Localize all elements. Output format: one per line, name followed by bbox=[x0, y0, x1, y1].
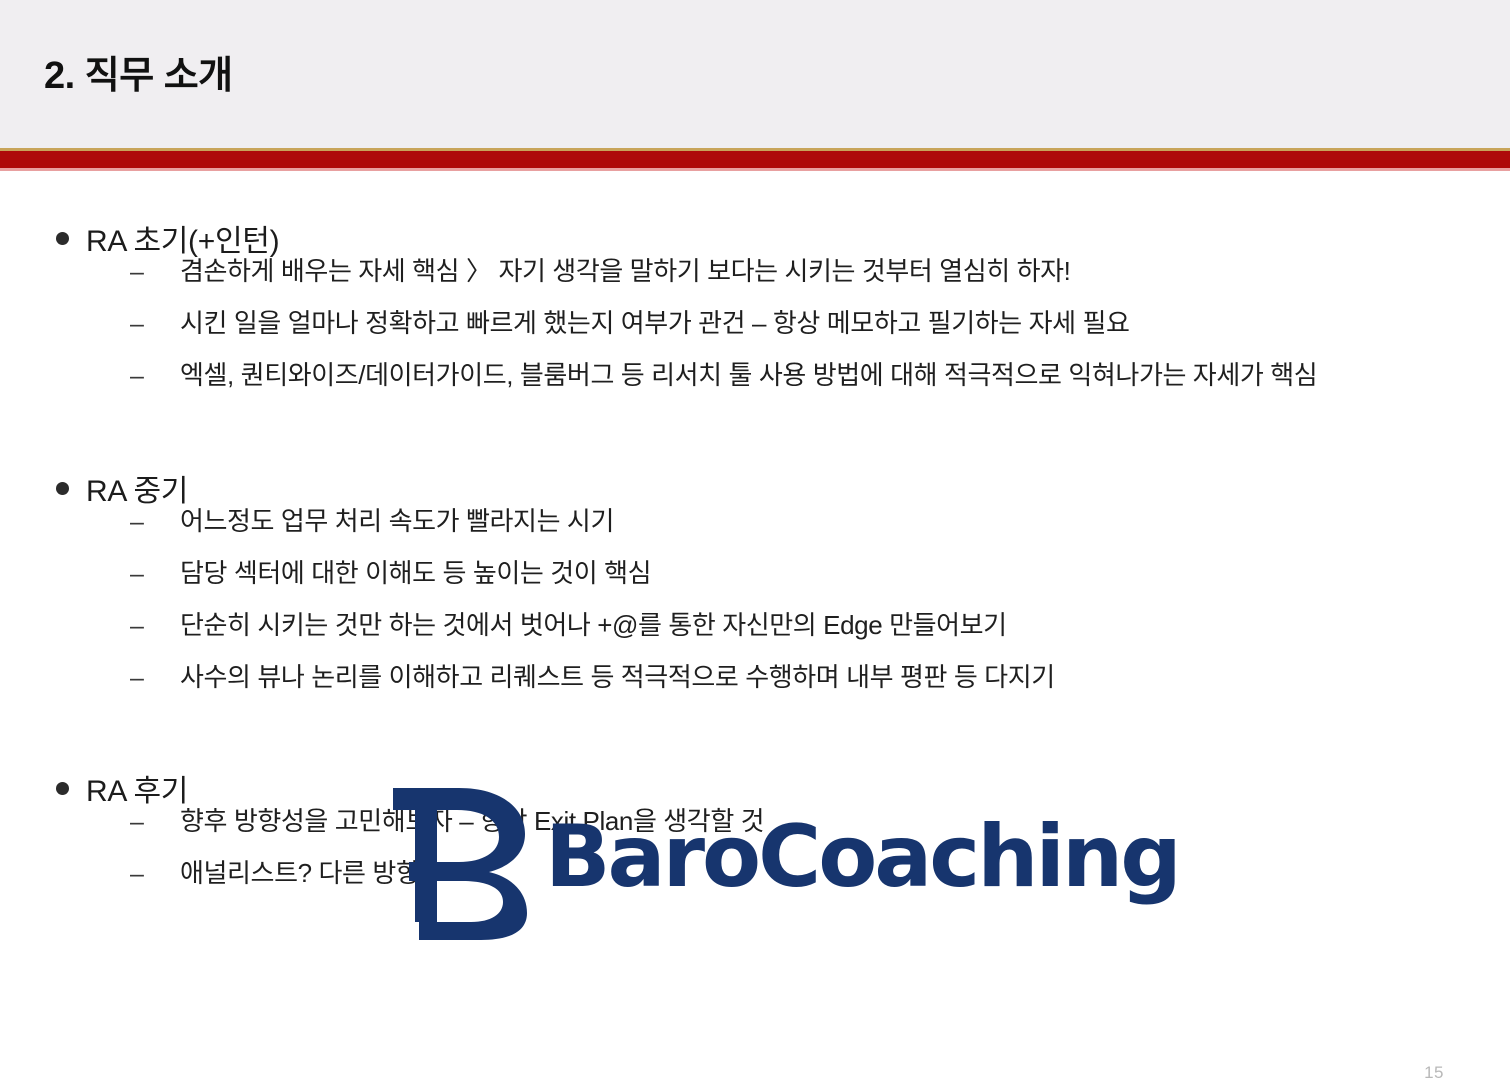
list-item: – 애널리스트? 다른 방향? bbox=[0, 859, 1460, 911]
dash-marker-icon: – bbox=[130, 510, 180, 535]
dash-marker-icon: – bbox=[130, 862, 180, 887]
bullet-dot-icon bbox=[56, 482, 69, 495]
list-item: – 시킨 일을 얼마나 정확하고 빠르게 했는지 여부가 관건 – 항상 메모하… bbox=[0, 309, 1460, 361]
dash-marker-icon: – bbox=[130, 260, 180, 285]
dash-marker-icon: – bbox=[130, 562, 180, 587]
list-item-text: 단순히 시키는 것만 하는 것에서 벗어나 +@를 통한 자신만의 Edge 만… bbox=[180, 611, 1007, 641]
dash-marker-icon: – bbox=[130, 666, 180, 691]
header-divider-red bbox=[0, 151, 1510, 168]
list-item: – 담당 섹터에 대한 이해도 등 높이는 것이 핵심 bbox=[0, 559, 1460, 611]
dash-marker-icon: – bbox=[130, 364, 180, 389]
content-section: RA 초기(+인턴) – 겸손하게 배우는 자세 핵심 〉 자기 생각을 말하기… bbox=[0, 219, 1460, 413]
section-title: RA 초기(+인턴) bbox=[86, 216, 279, 260]
slide-canvas: 2. 직무 소개 RA 초기(+인턴) – 겸손하게 배우는 자세 핵심 〉 자… bbox=[0, 0, 1510, 1074]
list-item-text: 엑셀, 퀀티와이즈/데이터가이드, 블룸버그 등 리서치 툴 사용 방법에 대해… bbox=[180, 361, 1317, 391]
sub-item-list: – 향후 방향성을 고민해보자 – 항상 Exit Plan을 생각할 것 – … bbox=[0, 807, 1460, 911]
list-item-text: 사수의 뷰나 논리를 이해하고 리퀘스트 등 적극적으로 수행하며 내부 평판 … bbox=[180, 663, 1055, 693]
section-heading: RA 후기 bbox=[0, 769, 1460, 807]
list-item: – 어느정도 업무 처리 속도가 빨라지는 시기 bbox=[0, 507, 1460, 559]
page-title: 2. 직무 소개 bbox=[44, 44, 233, 99]
dash-marker-icon: – bbox=[130, 614, 180, 639]
list-item-text: 겸손하게 배우는 자세 핵심 〉 자기 생각을 말하기 보다는 시키는 것부터 … bbox=[180, 257, 1070, 287]
sub-item-list: – 어느정도 업무 처리 속도가 빨라지는 시기 – 담당 섹터에 대한 이해도… bbox=[0, 507, 1460, 715]
slide-header-band: 2. 직무 소개 bbox=[0, 0, 1510, 148]
slide-body: RA 초기(+인턴) – 겸손하게 배우는 자세 핵심 〉 자기 생각을 말하기… bbox=[0, 171, 1510, 1074]
section-title: RA 후기 bbox=[86, 766, 188, 810]
bullet-dot-icon bbox=[56, 232, 69, 245]
list-item-text: 어느정도 업무 처리 속도가 빨라지는 시기 bbox=[180, 507, 614, 537]
sub-item-list: – 겸손하게 배우는 자세 핵심 〉 자기 생각을 말하기 보다는 시키는 것부… bbox=[0, 257, 1460, 413]
list-item-text: 향후 방향성을 고민해보자 – 항상 Exit Plan을 생각할 것 bbox=[180, 807, 764, 837]
list-item: – 겸손하게 배우는 자세 핵심 〉 자기 생각을 말하기 보다는 시키는 것부… bbox=[0, 257, 1460, 309]
section-heading: RA 초기(+인턴) bbox=[0, 219, 1460, 257]
bullet-dot-icon bbox=[56, 782, 69, 795]
list-item-text: 시킨 일을 얼마나 정확하고 빠르게 했는지 여부가 관건 – 항상 메모하고 … bbox=[180, 309, 1130, 339]
section-title: RA 중기 bbox=[86, 466, 188, 510]
content-section: RA 중기 – 어느정도 업무 처리 속도가 빨라지는 시기 – 담당 섹터에 … bbox=[0, 469, 1460, 715]
dash-marker-icon: – bbox=[130, 810, 180, 835]
content-section: RA 후기 – 향후 방향성을 고민해보자 – 항상 Exit Plan을 생각… bbox=[0, 769, 1460, 911]
dash-marker-icon: – bbox=[130, 312, 180, 337]
list-item-text: 담당 섹터에 대한 이해도 등 높이는 것이 핵심 bbox=[180, 559, 651, 589]
list-item: – 사수의 뷰나 논리를 이해하고 리퀘스트 등 적극적으로 수행하며 내부 평… bbox=[0, 663, 1460, 715]
list-item: – 엑셀, 퀀티와이즈/데이터가이드, 블룸버그 등 리서치 툴 사용 방법에 … bbox=[0, 361, 1460, 413]
page-number: 15 bbox=[1424, 1063, 1444, 1083]
list-item: – 향후 방향성을 고민해보자 – 항상 Exit Plan을 생각할 것 bbox=[0, 807, 1460, 859]
list-item: – 단순히 시키는 것만 하는 것에서 벗어나 +@를 통한 자신만의 Edge… bbox=[0, 611, 1460, 663]
section-heading: RA 중기 bbox=[0, 469, 1460, 507]
list-item-text: 애널리스트? 다른 방향? bbox=[180, 859, 433, 889]
